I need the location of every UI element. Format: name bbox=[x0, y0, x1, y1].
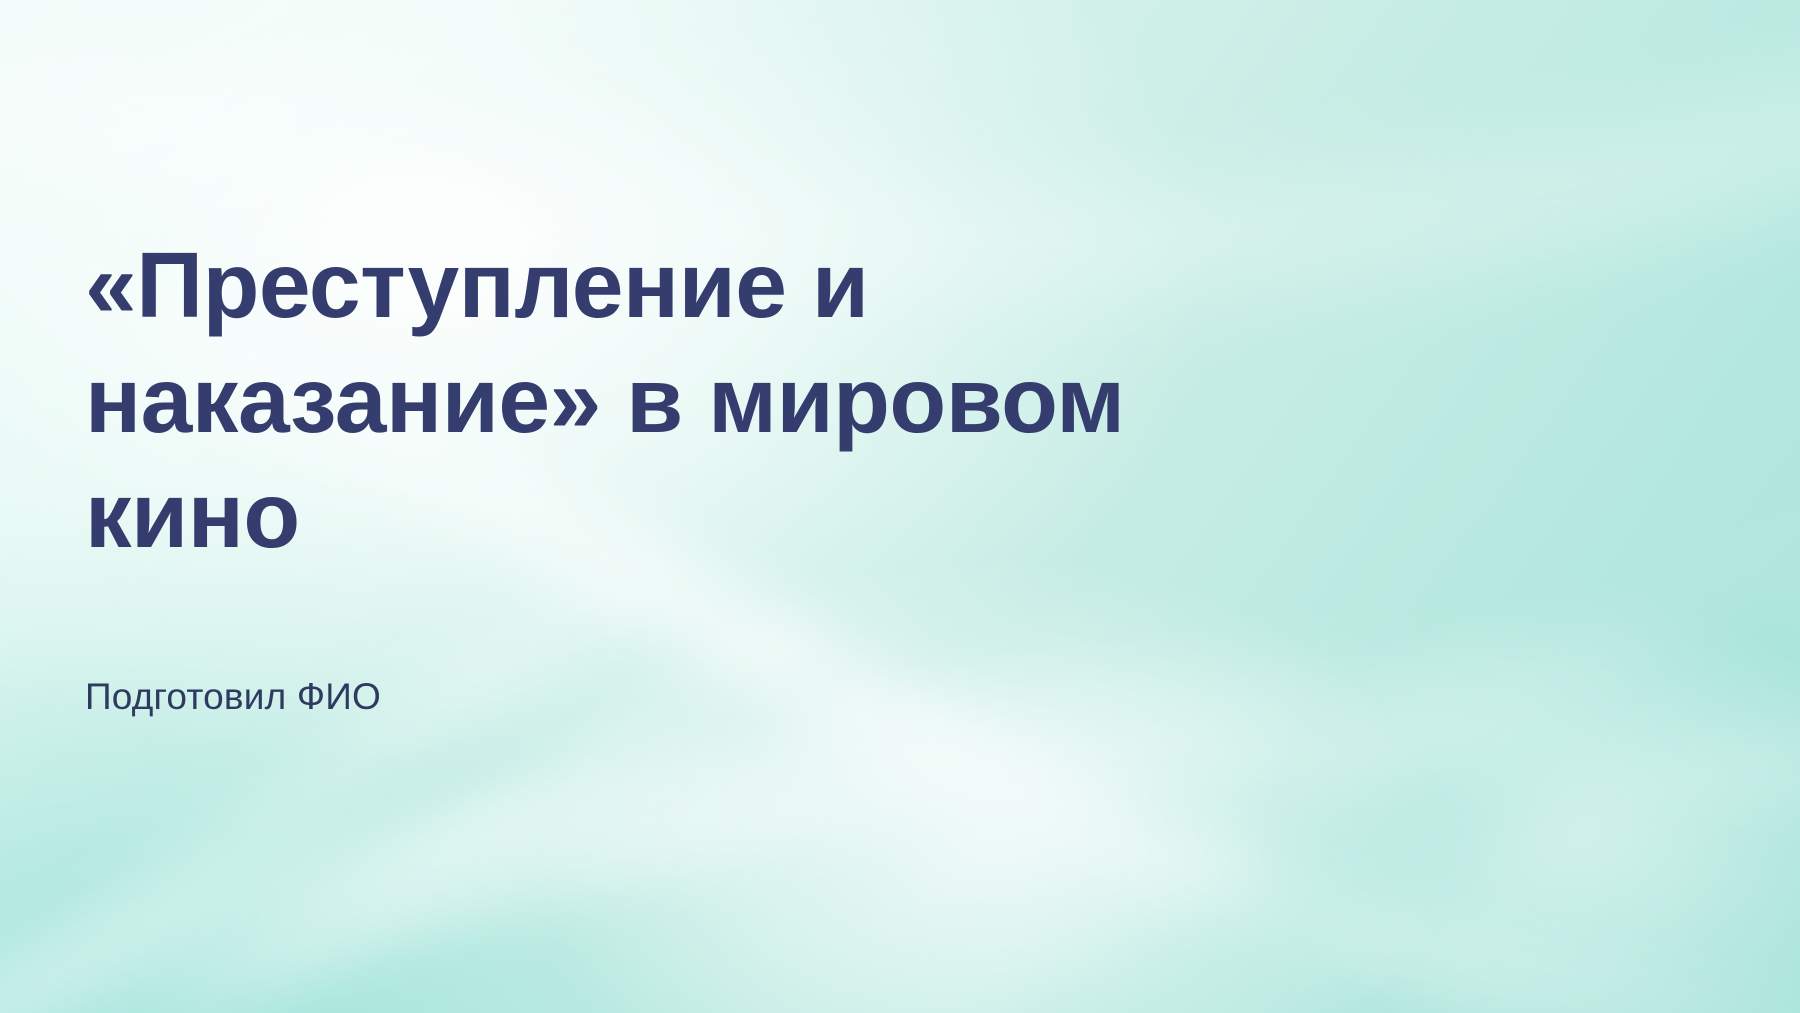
slide-content: «Преступление и наказание» в мировом кин… bbox=[85, 0, 1645, 1013]
page-title: «Преступление и наказание» в мировом кин… bbox=[85, 228, 1605, 573]
title-slide: «Преступление и наказание» в мировом кин… bbox=[0, 0, 1800, 1013]
slide-subtitle-author: Подготовил ФИО bbox=[85, 674, 381, 720]
title-line-2: наказание» в мировом bbox=[85, 343, 1605, 458]
title-line-3: кино bbox=[85, 458, 1605, 573]
title-line-1: «Преступление и bbox=[85, 228, 1605, 343]
